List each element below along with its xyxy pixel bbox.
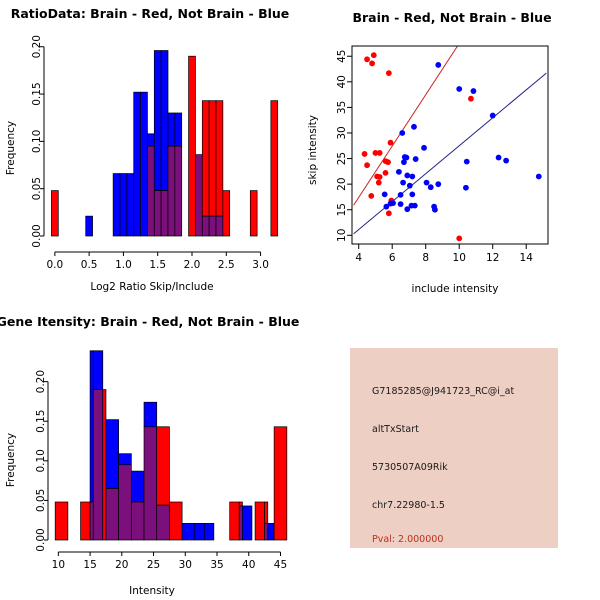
- scatter-point: [496, 155, 502, 161]
- histogram-bar: [86, 216, 93, 236]
- ratio-histogram-ylabel: Frequency: [5, 121, 17, 175]
- svg-text:45: 45: [336, 50, 348, 63]
- svg-text:25: 25: [336, 152, 348, 165]
- histogram-bar-segment: [209, 101, 216, 216]
- histogram-bar-segment: [168, 113, 175, 146]
- histogram-bar: [127, 174, 134, 236]
- scatter-point: [368, 193, 374, 199]
- svg-text:0.10: 0.10: [35, 449, 47, 472]
- scatter-xlabel: include intensity: [412, 283, 499, 295]
- svg-text:10: 10: [453, 252, 466, 264]
- histogram-bar-overlap: [195, 155, 202, 236]
- svg-text:8: 8: [422, 252, 429, 264]
- histogram-bar-overlap: [93, 390, 103, 540]
- histogram-bar-segment: [144, 402, 157, 427]
- histogram-bar: [250, 191, 257, 236]
- scatter-point: [428, 184, 434, 190]
- svg-text:0.00: 0.00: [35, 528, 47, 551]
- scatter-panel: Brain - Red, Not Brain - Blue skip inten…: [300, 0, 600, 300]
- scatter-fit-line: [354, 73, 547, 234]
- scatter-point: [409, 174, 415, 180]
- scatter-point: [463, 185, 469, 191]
- svg-text:14: 14: [520, 252, 534, 264]
- scatter-point: [413, 156, 419, 162]
- svg-text:0.15: 0.15: [35, 410, 47, 433]
- histogram-bar-overlap: [175, 146, 182, 236]
- histogram-bar-segment: [90, 351, 93, 502]
- info-probe-id: G7185285@J941723_RC@i_at: [372, 386, 514, 397]
- scatter-point: [421, 145, 427, 151]
- info-gene-symbol: 5730507A09Rik: [372, 462, 448, 473]
- scatter-point: [399, 130, 405, 136]
- histogram-bar: [195, 523, 205, 540]
- histogram-bar-segment: [147, 134, 154, 146]
- scatter-point: [376, 180, 382, 186]
- scatter-point: [398, 201, 404, 207]
- scatter-axes: 4681012141015202530354045: [336, 46, 548, 264]
- histogram-bar: [189, 56, 196, 236]
- scatter-point: [386, 70, 392, 76]
- svg-text:0.20: 0.20: [31, 35, 43, 58]
- svg-text:1.0: 1.0: [115, 259, 132, 271]
- scatter-ylabel: skip intensity: [307, 115, 319, 185]
- histogram-bar-overlap: [131, 502, 144, 540]
- svg-text:1.5: 1.5: [149, 259, 166, 271]
- histogram-bar: [81, 502, 91, 540]
- scatter-point: [468, 96, 474, 102]
- scatter-points: [362, 52, 542, 241]
- histogram-bar-segment: [157, 427, 170, 505]
- histogram-bar: [274, 427, 287, 540]
- svg-text:0.0: 0.0: [47, 259, 64, 271]
- histogram-bar: [103, 390, 106, 540]
- scatter-point: [383, 170, 389, 176]
- histogram-bar: [255, 502, 265, 540]
- svg-text:30: 30: [336, 126, 348, 139]
- svg-text:2.5: 2.5: [218, 259, 235, 271]
- svg-text:35: 35: [336, 101, 348, 114]
- scatter-point: [382, 191, 388, 197]
- histogram-bar: [268, 523, 274, 540]
- svg-text:0.05: 0.05: [35, 489, 47, 512]
- histogram-bar: [230, 502, 240, 540]
- scatter-point: [435, 181, 441, 187]
- histogram-bar-overlap: [209, 216, 216, 236]
- svg-text:6: 6: [389, 252, 396, 264]
- scatter-point: [536, 174, 542, 180]
- scatter-point: [411, 124, 417, 130]
- histogram-bar: [169, 502, 182, 540]
- histogram-bar-segment: [119, 454, 132, 465]
- scatter-point: [471, 88, 477, 94]
- histogram-bar-overlap: [157, 505, 170, 540]
- svg-text:20: 20: [115, 559, 128, 571]
- info-locus: chr7.22980-1.5: [372, 500, 445, 511]
- scatter-point: [377, 150, 383, 156]
- scatter-point: [409, 191, 415, 197]
- scatter-point: [385, 159, 391, 165]
- scatter-point: [377, 174, 383, 180]
- scatter-point: [490, 113, 496, 119]
- svg-text:25: 25: [147, 559, 160, 571]
- svg-text:15: 15: [336, 203, 348, 216]
- info-pvalue: Pval: 2.000000: [372, 534, 443, 545]
- histogram-bar: [141, 92, 148, 236]
- scatter-point: [364, 56, 370, 62]
- gene-histogram-ylabel: Frequency: [5, 433, 17, 487]
- scatter-point: [386, 210, 392, 216]
- ratio-histogram-bars: [51, 51, 277, 236]
- histogram-bar: [51, 191, 58, 236]
- svg-text:0.00: 0.00: [31, 224, 43, 247]
- histogram-bar: [242, 506, 252, 540]
- svg-text:4: 4: [355, 252, 362, 264]
- histogram-bar: [271, 101, 278, 236]
- histogram-bar-overlap: [144, 427, 157, 540]
- scatter-title: Brain - Red, Not Brain - Blue: [352, 10, 551, 25]
- histogram-bar: [204, 523, 214, 540]
- svg-text:10: 10: [336, 229, 348, 242]
- scatter-point: [435, 62, 441, 68]
- histogram-bar-segment: [175, 113, 182, 146]
- histogram-bar: [113, 174, 120, 236]
- ratio-histogram-xlabel: Log2 Ratio Skip/Include: [90, 281, 213, 293]
- scatter-point: [412, 203, 418, 209]
- scatter-point: [388, 140, 394, 146]
- svg-text:0.5: 0.5: [81, 259, 98, 271]
- scatter-point: [400, 180, 406, 186]
- scatter-point: [456, 235, 462, 241]
- gene-histogram-xlabel: Intensity: [129, 585, 175, 597]
- scatter-point: [407, 183, 413, 189]
- gene-info-panel: G7185285@J941723_RC@i_at altTxStart 5730…: [350, 348, 558, 548]
- svg-text:3.0: 3.0: [252, 259, 269, 271]
- histogram-bar-segment: [131, 471, 144, 502]
- svg-text:40: 40: [242, 559, 255, 571]
- histogram-bar-segment: [216, 101, 223, 216]
- histogram-bar-overlap: [202, 216, 209, 236]
- scatter-point: [456, 86, 462, 92]
- scatter-point: [503, 158, 509, 164]
- svg-text:40: 40: [336, 75, 348, 88]
- histogram-bar-overlap: [106, 489, 119, 540]
- histogram-bar-segment: [161, 51, 168, 191]
- scatter-point: [362, 151, 368, 157]
- scatter-point: [464, 159, 470, 165]
- histogram-bar-segment: [106, 420, 119, 489]
- ratio-histogram-svg: RatioData: Brain - Red, Not Brain - Blue…: [0, 0, 300, 300]
- histogram-bar-overlap: [216, 216, 223, 236]
- info-event-type: altTxStart: [372, 424, 419, 435]
- svg-text:0.10: 0.10: [31, 130, 43, 153]
- svg-text:45: 45: [274, 559, 287, 571]
- histogram-bar: [134, 92, 141, 236]
- ratio-histogram-panel: RatioData: Brain - Red, Not Brain - Blue…: [0, 0, 300, 300]
- histogram-bar: [223, 191, 230, 236]
- svg-text:0.20: 0.20: [35, 370, 47, 393]
- scatter-svg: Brain - Red, Not Brain - Blue skip inten…: [300, 0, 600, 300]
- svg-text:10: 10: [52, 559, 65, 571]
- histogram-bar: [55, 502, 68, 540]
- gene-histogram-title: Gene Itensity: Brain - Red, Not Brain - …: [0, 314, 299, 329]
- svg-text:0.05: 0.05: [31, 177, 43, 200]
- ratio-histogram-title: RatioData: Brain - Red, Not Brain - Blue: [11, 6, 290, 21]
- histogram-bar: [182, 523, 195, 540]
- svg-text:15: 15: [83, 559, 96, 571]
- scatter-point: [432, 207, 438, 213]
- svg-text:20: 20: [336, 177, 348, 190]
- scatter-point: [369, 60, 375, 66]
- scatter-frame: [352, 46, 548, 244]
- gene-histogram-bars: [55, 351, 287, 540]
- gene-histogram-svg: Gene Itensity: Brain - Red, Not Brain - …: [0, 300, 320, 600]
- histogram-bar-overlap: [161, 191, 168, 236]
- svg-text:2.0: 2.0: [184, 259, 201, 271]
- svg-text:12: 12: [486, 252, 499, 264]
- histogram-bar-overlap: [147, 146, 154, 236]
- scatter-fit-lines: [354, 46, 547, 234]
- histogram-bar-segment: [239, 502, 242, 506]
- scatter-point: [424, 180, 430, 186]
- histogram-bar-overlap: [168, 146, 175, 236]
- gene-histogram-panel: Gene Itensity: Brain - Red, Not Brain - …: [0, 300, 320, 600]
- scatter-point: [398, 192, 404, 198]
- scatter-point: [404, 173, 410, 179]
- svg-text:0.15: 0.15: [31, 82, 43, 105]
- histogram-bar-overlap: [119, 465, 132, 540]
- histogram-bar-overlap: [90, 502, 93, 540]
- histogram-bar: [120, 174, 127, 236]
- svg-text:35: 35: [210, 559, 223, 571]
- scatter-point: [371, 52, 377, 58]
- histogram-bar-segment: [202, 101, 209, 216]
- histogram-bar-overlap: [239, 506, 242, 540]
- histogram-bar-segment: [154, 51, 161, 191]
- histogram-bar-overlap: [154, 191, 161, 236]
- histogram-bar-overlap: [265, 523, 268, 540]
- scatter-point: [364, 162, 370, 168]
- histogram-bar-segment: [265, 502, 268, 523]
- histogram-bar-segment: [93, 351, 103, 390]
- scatter-point: [396, 169, 402, 175]
- scatter-point: [390, 200, 396, 206]
- svg-text:30: 30: [179, 559, 192, 571]
- scatter-point: [401, 159, 407, 165]
